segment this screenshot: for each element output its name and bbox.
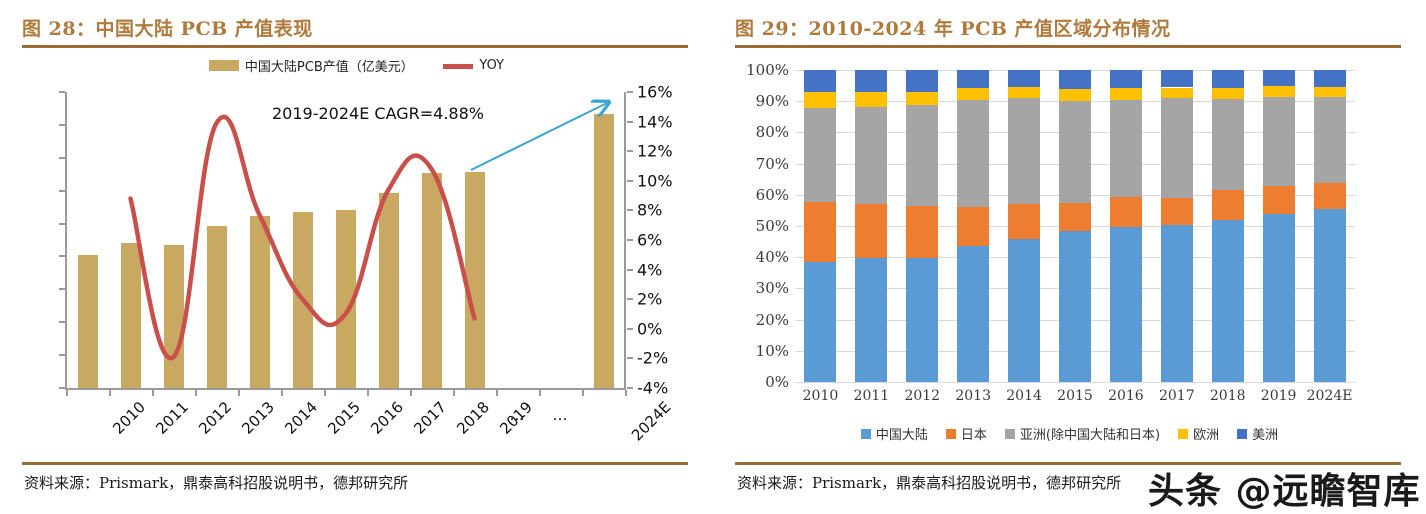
figure-29-stack-segment (906, 105, 938, 206)
figure-29-stack-segment (1314, 209, 1346, 382)
figure-29-y-tick-label: 60% (737, 186, 789, 204)
figure-29-legend-swatch-icon (946, 429, 956, 439)
figure-28-panel: 图 28：中国大陆 PCB 产值表现 中国大陆PCB产值（亿美元） YOY 20… (0, 0, 713, 510)
figure-29-stack-segment (1314, 87, 1346, 97)
figure-29-stack-segment (1263, 97, 1295, 186)
figure-29-legend-item: 日本 (946, 424, 987, 443)
figure-28-source: 资料来源：Prismark，鼎泰高科招股说明书，德邦研究所 (24, 472, 408, 493)
figure-29-stack-segment (906, 206, 938, 258)
figure-28-y2-tickmark (627, 269, 633, 271)
figure-28-cagr-arrow-icon (471, 103, 607, 170)
figure-29-y-tick-label: 100% (737, 61, 789, 79)
figure-29-stack-segment (957, 70, 989, 88)
watermark: 头条 @远瞻智库 (1148, 462, 1421, 514)
figure-29-stack (855, 70, 887, 382)
figure-29-stack-segment (906, 70, 938, 92)
figure-29-stack-segment (1263, 86, 1295, 97)
legend-swatch-line-icon (443, 64, 473, 69)
figure-29-stack-segment (1314, 70, 1346, 87)
figure-29-stack-segment (1008, 87, 1040, 99)
figure-28-y-axis-left (65, 92, 67, 389)
figure-28-legend: 中国大陆PCB产值（亿美元） YOY (0, 56, 713, 75)
figure-28-x-tickmark (109, 390, 111, 396)
figure-28-y-tickmark (59, 387, 65, 389)
figure-29-stack-segment (804, 92, 836, 107)
figure-28-x-tickmark (539, 390, 541, 396)
figure-28-x-tickmark (324, 390, 326, 396)
figure-28-y2-tickmark (627, 298, 633, 300)
figure-29-stack-segment (1161, 225, 1193, 382)
figure-28-y-tickmark (59, 255, 65, 257)
figure-28-y2-tick-label: 4% (637, 260, 662, 279)
figure-28-y-tickmark (59, 354, 65, 356)
figure-28-bar (594, 114, 614, 388)
figure-29-legend-swatch-icon (861, 429, 871, 439)
figure-29-legend-label: 日本 (961, 428, 987, 443)
figure-28-x-tickmark (453, 390, 455, 396)
figure-28-x-label: 2014 (281, 398, 321, 438)
figure-29-stack (1110, 70, 1142, 382)
figure-28-bar (164, 245, 184, 388)
figure-29-legend-label: 亚洲(除中国大陆和日本) (1020, 428, 1160, 443)
figure-28-bar (379, 193, 399, 388)
figure-29-stack-segment (1263, 186, 1295, 214)
figure-29-legend-swatch-icon (1005, 429, 1015, 439)
figure-29-y-tick-label: 80% (737, 123, 789, 141)
figure-28-bar (293, 212, 313, 388)
figure-29-stack-segment (804, 202, 836, 262)
figure-29-stack-segment (1008, 239, 1040, 382)
figure-29-title-rule (735, 45, 1401, 48)
figure-29-y-tick-label: 90% (737, 92, 789, 110)
figure-29-y-tick-label: 50% (737, 217, 789, 235)
figure-29-stack-segment (1008, 70, 1040, 87)
figure-29-title: 图 29：2010-2024 年 PCB 产值区域分布情况 (735, 14, 1171, 41)
figure-29-stack-segment (1263, 214, 1295, 382)
figure-28-x-label: … (553, 406, 568, 424)
figure-29-stack-segment (1059, 231, 1091, 382)
figure-28-y2-tick-label: 14% (637, 112, 673, 131)
figure-29-stack-segment (855, 258, 887, 382)
figure-29-stack-segment (855, 70, 887, 92)
figure-29-y-tick-label: 70% (737, 155, 789, 173)
figure-28-y2-tickmark (627, 180, 633, 182)
figure-28-bar (207, 226, 227, 388)
figure-28-x-axis (65, 388, 626, 390)
figure-29-stack-segment (1110, 227, 1142, 382)
figure-28-y2-tickmark (627, 209, 633, 211)
figure-28-y2-tick-label: 6% (637, 231, 662, 250)
figure-28-y2-tick-label: 8% (637, 201, 662, 220)
figure-28-x-label: 2024E (627, 398, 673, 444)
figure-29-y-tick-label: 40% (737, 248, 789, 266)
figure-28-y2-tick-label: -4% (637, 379, 668, 398)
figure-28-y2-tick-label: 10% (637, 171, 673, 190)
figure-29-stack-segment (957, 100, 989, 207)
figure-29-legend-label: 中国大陆 (876, 428, 928, 443)
figure-29-stack-segment (1059, 89, 1091, 101)
figure-29-legend-label: 美洲 (1252, 428, 1278, 443)
figure-29-stack-segment (1212, 99, 1244, 190)
figure-29-legend-item: 欧洲 (1178, 424, 1219, 443)
figure-29-y-tick-label: 0% (737, 373, 789, 391)
figure-28-y2-tickmark (627, 91, 633, 93)
figure-29-stack-segment (1263, 70, 1295, 86)
figure-29-stack-segment (1212, 88, 1244, 99)
figure-28-x-label: 2016 (367, 398, 407, 438)
figure-28-title-rule (22, 45, 688, 48)
figure-28-x-label: … (510, 406, 525, 424)
figure-28-x-tickmark (582, 390, 584, 396)
figure-29-stack-segment (855, 107, 887, 205)
figure-29-stack (1314, 70, 1346, 382)
figure-28-y2-tick-label: 12% (637, 142, 673, 161)
figure-28-bar (78, 255, 98, 388)
figure-29-stack-segment (855, 204, 887, 257)
figure-28-y-tickmark (59, 91, 65, 93)
figure-29-stack-segment (1212, 220, 1244, 382)
figure-28-x-label: 2017 (410, 398, 450, 438)
figure-29-stack-segment (1212, 190, 1244, 220)
figure-29-legend: 中国大陆日本亚洲(除中国大陆和日本)欧洲美洲 (713, 424, 1426, 443)
legend-item-output: 中国大陆PCB产值（亿美元） (209, 56, 414, 75)
figure-29-stack (957, 70, 989, 382)
figure-29-stack (1263, 70, 1295, 382)
figure-29-stack (1161, 70, 1193, 382)
figure-28-y2-tick-label: 16% (637, 83, 673, 102)
figure-28-y-tickmark (59, 124, 65, 126)
figure-29-stack-segment (1110, 70, 1142, 88)
figure-29-stack-segment (855, 92, 887, 106)
figure-29-stack-segment (1008, 204, 1040, 239)
figure-28-bar (465, 172, 485, 388)
figure-29-stack (1059, 70, 1091, 382)
figure-28-y2-tickmark (627, 150, 633, 152)
figure-29-stack-segment (1059, 101, 1091, 203)
figure-28-x-tickmark (281, 390, 283, 396)
figure-28-x-tickmark (66, 390, 68, 396)
figure-29-stack-segment (906, 258, 938, 382)
figure-28-x-tickmark (625, 390, 627, 396)
figure-29-legend-swatch-icon (1178, 429, 1188, 439)
figure-29-stack-segment (1059, 203, 1091, 232)
figure-29-gridline (795, 382, 1355, 383)
figure-29-stack-segment (1110, 197, 1142, 227)
figure-29-legend-label: 欧洲 (1193, 428, 1219, 443)
figure-29-stack-segment (1314, 97, 1346, 183)
figure-28-y2-tickmark (627, 239, 633, 241)
figure-28-bottom-rule (22, 462, 688, 465)
figure-29-stack-segment (804, 262, 836, 382)
figure-29-stack-segment (804, 70, 836, 92)
figure-29-source: 资料来源：Prismark，鼎泰高科招股说明书，德邦研究所 (737, 472, 1121, 493)
figure-28-bar (121, 243, 141, 388)
figure-29-stack-segment (804, 108, 836, 203)
figure-29-stack-segment (1110, 100, 1142, 197)
figure-28-y-axis-right (624, 92, 626, 389)
figure-28-y2-tickmark (627, 121, 633, 123)
figure-28-bar (422, 173, 442, 388)
figure-29-stack-segment (957, 88, 989, 100)
figure-28-y-tickmark (59, 223, 65, 225)
figure-28-title: 图 28：中国大陆 PCB 产值表现 (22, 14, 313, 41)
figure-28-x-label: 2012 (195, 398, 235, 438)
figure-28-y2-tickmark (627, 328, 633, 330)
figure-28-x-tickmark (496, 390, 498, 396)
figure-28-y-tickmark (59, 288, 65, 290)
figure-28-cagr-annotation: 2019-2024E CAGR=4.88% (272, 104, 484, 123)
figure-29-stack (804, 70, 836, 382)
figure-29-legend-swatch-icon (1237, 429, 1247, 439)
figure-29-stack (1008, 70, 1040, 382)
figure-28-y2-tick-label: 0% (637, 319, 662, 338)
figure-28-x-tickmark (152, 390, 154, 396)
figures-page: 图 28：中国大陆 PCB 产值表现 中国大陆PCB产值（亿美元） YOY 20… (0, 0, 1426, 510)
figure-29-stack-segment (1008, 98, 1040, 204)
figure-28-x-label: 2018 (453, 398, 493, 438)
figure-28-y2-tickmark (627, 357, 633, 359)
figure-28-y2-tickmark (627, 387, 633, 389)
figure-29-stack-segment (1110, 88, 1142, 99)
figure-28-x-label: 2010 (109, 398, 149, 438)
figure-28-x-label: 2013 (238, 398, 278, 438)
figure-28-y-tickmark (59, 321, 65, 323)
figure-28-x-tickmark (195, 390, 197, 396)
figure-29-stack-segment (1161, 70, 1193, 87)
legend-item-yoy: YOY (417, 57, 504, 73)
figure-29-stack-segment (1161, 198, 1193, 225)
figure-29-stack-segment (1212, 70, 1244, 88)
figure-29-stack-segment (906, 92, 938, 104)
figure-29-stack (1212, 70, 1244, 382)
figure-29-y-tick-label: 30% (737, 279, 789, 297)
figure-28-x-label: 2011 (152, 398, 192, 438)
figure-29-x-label: 2024E (1300, 388, 1360, 404)
figure-29-stack-segment (1059, 70, 1091, 89)
figure-29-legend-item: 美洲 (1237, 424, 1278, 443)
figure-29-stack-segment (1161, 88, 1193, 99)
figure-29-stack-segment (957, 246, 989, 382)
legend-swatch-bar-icon (209, 60, 239, 71)
figure-28-bar (336, 210, 356, 388)
legend-label-output: 中国大陆PCB产值（亿美元） (245, 60, 414, 75)
figure-29-legend-item: 中国大陆 (861, 424, 928, 443)
figure-28-y-tickmark (59, 190, 65, 192)
figure-28-x-tickmark (410, 390, 412, 396)
figure-29-y-tick-label: 20% (737, 311, 789, 329)
figure-28-y2-tick-label: -2% (637, 349, 668, 368)
figure-28-y2-tick-label: 2% (637, 290, 662, 309)
figure-28-y-tickmark (59, 157, 65, 159)
figure-29-stack-segment (1161, 98, 1193, 198)
figure-29-y-tick-label: 10% (737, 342, 789, 360)
figure-29-stack-segment (1314, 183, 1346, 209)
figure-28-x-tickmark (238, 390, 240, 396)
legend-label-yoy: YOY (479, 59, 504, 74)
figure-28-bar (250, 216, 270, 388)
figure-28-x-label: 2015 (324, 398, 364, 438)
figure-28-x-tickmark (367, 390, 369, 396)
figure-29-legend-item: 亚洲(除中国大陆和日本) (1005, 424, 1160, 443)
figure-29-stack (906, 70, 938, 382)
figure-29-stack-segment (957, 207, 989, 246)
